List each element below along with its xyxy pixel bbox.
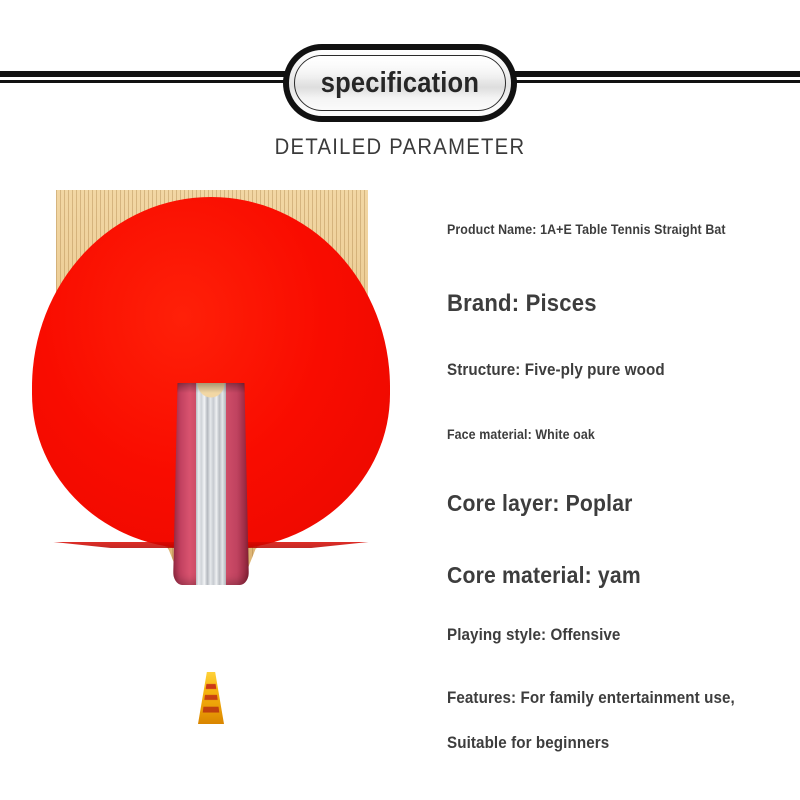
spec-face-material-text: Face material: White oak bbox=[447, 427, 595, 442]
spec-product-name-text: Product Name: 1A+E Table Tennis Straight… bbox=[447, 222, 726, 237]
specification-badge-inner: specification bbox=[294, 55, 506, 111]
spec-features-1: Features: For family entertainment use, bbox=[447, 689, 760, 708]
spec-features-1-text: Features: For family entertainment use, bbox=[447, 689, 735, 708]
spec-structure-text: Structure: Five-ply pure wood bbox=[447, 361, 665, 380]
paddle-handle-stripes bbox=[196, 383, 226, 585]
header-banner: specification DETAILED PARAMETER bbox=[0, 0, 800, 175]
paddle-handle-shadow bbox=[173, 383, 249, 393]
spec-playing-style-text: Playing style: Offensive bbox=[447, 626, 620, 645]
specification-badge: specification bbox=[283, 44, 517, 122]
spec-core-layer-text: Core layer: Poplar bbox=[447, 490, 633, 517]
spec-core-material-text: Core material: yam bbox=[447, 562, 641, 589]
spec-product-name: Product Name: 1A+E Table Tennis Straight… bbox=[447, 222, 750, 237]
spec-core-layer: Core layer: Poplar bbox=[447, 490, 649, 517]
spec-features-2-text: Suitable for beginners bbox=[447, 734, 609, 753]
spec-brand-text: Brand: Pisces bbox=[447, 290, 597, 318]
header-subtitle: DETAILED PARAMETER bbox=[32, 134, 768, 160]
spec-face-material: Face material: White oak bbox=[447, 427, 608, 442]
spec-playing-style: Playing style: Offensive bbox=[447, 626, 636, 645]
specification-badge-title: specification bbox=[321, 67, 479, 100]
spec-brand: Brand: Pisces bbox=[447, 290, 610, 318]
spec-core-material: Core material: yam bbox=[447, 562, 658, 589]
spec-features-2: Suitable for beginners bbox=[447, 734, 623, 753]
spec-structure: Structure: Five-ply pure wood bbox=[447, 361, 684, 380]
